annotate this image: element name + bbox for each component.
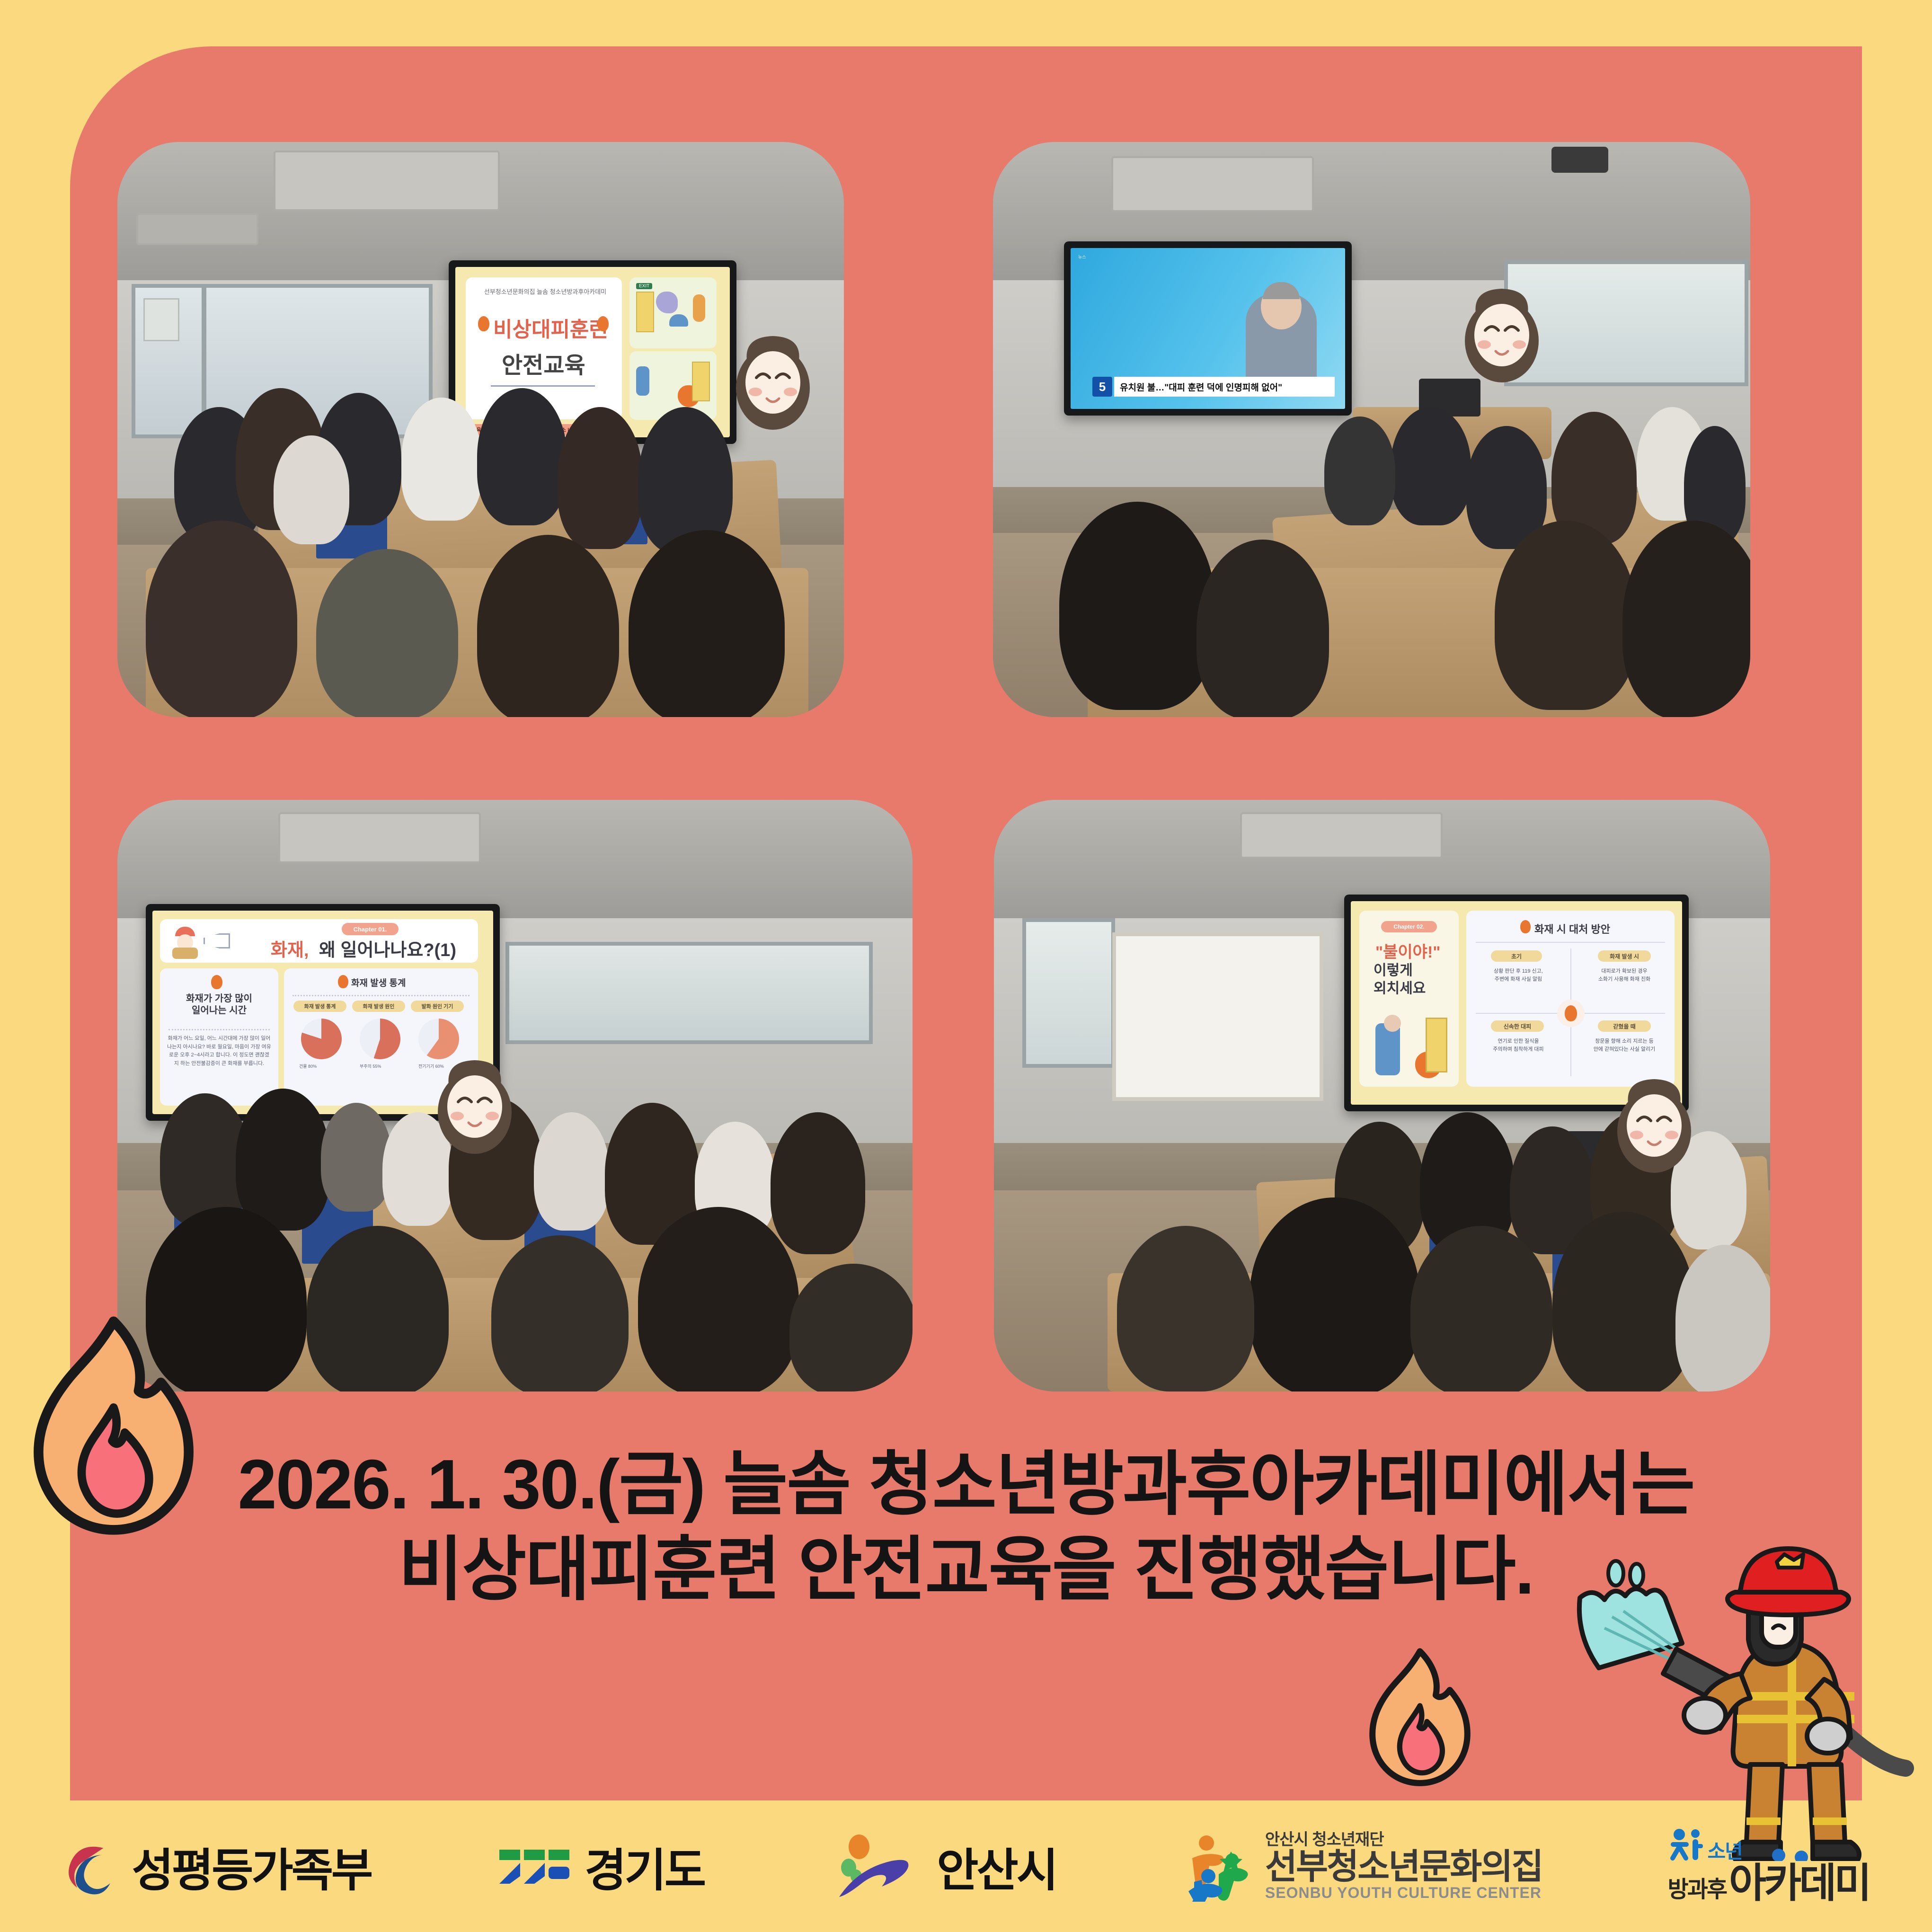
caption-line-1: 2026. 1. 30.(금) 늘솜 청소년방과후아카데미에서는 — [0, 1444, 1932, 1526]
slide4-chapter: Chapter 02. — [1381, 921, 1437, 932]
logo-ministry-label: 성평등가족부 — [132, 1834, 371, 1899]
logo-gyeonggi-province: 경기도 — [496, 1834, 704, 1899]
logo-seonbu-youth-culture-center: 안산시 청소년재단 선부청소년문화의집 SEONBU YOUTH CULTURE… — [1182, 1831, 1542, 1902]
slide3-pie-2-label: 화재 발생 원인 — [352, 1001, 405, 1012]
slide4-quad-1-chip: 초기 — [1491, 950, 1542, 962]
slide4-quad-3-text: 연기로 인한 질식을 주의하며 침착하게 대피 — [1477, 1037, 1560, 1054]
logo-ansan-city: 안산시 — [830, 1831, 1056, 1902]
slide4-title-black: 이렇게 외치세요 — [1374, 962, 1445, 997]
logo-seonbu-en: SEONBU YOUTH CULTURE CENTER — [1265, 1885, 1542, 1901]
photo-3: Chapter 01. 화재, 왜 일어나나요?(1) 화재가 가장 많이 일어… — [117, 800, 913, 1391]
slide3-right-title: 화재 발생 통계 — [351, 976, 406, 989]
slide4-quad-4-text: 창문을 향해 소리 지르는 등 안에 갇혀있다는 사실 알리기 — [1581, 1037, 1668, 1054]
logo-academy-label: 아카데미 — [1729, 1862, 1869, 1905]
slide1-title-red: 비상대피훈련 — [493, 312, 608, 343]
slide1-title-black: 안전교육 — [502, 346, 585, 380]
logo-seonbu-label: 선부청소년문화의집 — [1265, 1848, 1542, 1885]
taegeuk-swirl-icon — [62, 1838, 119, 1895]
people-star-mark-icon — [1182, 1831, 1253, 1902]
cartoon-face-sticker-icon — [430, 1055, 520, 1155]
logo-academy-badge-sub: 소년 — [1708, 1841, 1742, 1862]
slide3-pie-1-label: 화재 발생 통계 — [293, 1001, 346, 1012]
flame-icon — [1358, 1647, 1481, 1789]
slide1-exit-label: EXIT — [636, 283, 652, 289]
photo-4: Chapter 02. "불이야!" 이렇게 외치세요 화재 시 대처 방안 — [994, 800, 1770, 1391]
ansan-swirl-mark-icon — [830, 1831, 924, 1902]
slide3-left-title: 화재가 가장 많이 일어나는 시간 — [168, 993, 270, 1017]
photo-1: 선부청소년문화의집 늘솜 청소년방과후아카데미 비상대피훈련 안전교육 EXIT — [117, 142, 844, 717]
slide3-pie-3-label: 발화 원인 기기 — [411, 1001, 464, 1012]
logo-seonbu-sub: 안산시 청소년재단 — [1265, 1832, 1542, 1849]
poster-canvas: 선부청소년문화의집 늘솜 청소년방과후아카데미 비상대피훈련 안전교육 EXIT — [0, 0, 1932, 1932]
cartoon-face-sticker-icon — [1609, 1074, 1699, 1174]
slide3-pie-1-slice: 건물 80% — [299, 1063, 317, 1069]
logo-gyeonggi-label: 경기도 — [585, 1834, 704, 1899]
slide4-quad-4-chip: 갇혔을 때 — [1598, 1020, 1651, 1032]
gyeonggi-gg-mark-icon — [496, 1840, 572, 1892]
logo-youth-after-school-academy: 소년 방과후 아카데미 — [1668, 1828, 1870, 1905]
logo-ministry-gender-equality-family: 성평등가족부 — [62, 1834, 371, 1899]
slide4-quad-1-text: 상황 판단 후 119 신고, 주변에 화재 사실 알림 — [1477, 967, 1560, 984]
slide4-quad-2-chip: 화재 발생 시 — [1598, 950, 1651, 962]
slide4-quad-2-text: 대피로가 확보된 경우 소화기 사용해 화재 진화 — [1582, 967, 1667, 984]
slide4-title-red: "불이야!" — [1375, 939, 1440, 962]
photo-2: 뉴스 5 유치원 불…"대피 훈련 덕에 인명피해 없어" — [993, 142, 1750, 717]
news-headline: 유치원 불…"대피 훈련 덕에 인명피해 없어" — [1114, 377, 1335, 397]
cartoon-face-sticker-icon — [728, 331, 818, 431]
slide1-header: 선부청소년문화의집 늘솜 청소년방과후아카데미 — [474, 287, 616, 296]
slide3-pie-2-slice: 부주의 55% — [360, 1063, 381, 1069]
slide4-right-title: 화재 시 대처 방안 — [1534, 921, 1610, 936]
sponsor-logo-bar: 성평등가족부 경기도 안산시 — [0, 1800, 1932, 1932]
news-channel-badge: 5 — [1092, 377, 1112, 397]
water-spray-icon — [1579, 1561, 1682, 1668]
slide4-quad-3-chip: 신속한 대피 — [1491, 1020, 1544, 1032]
logo-ansan-label: 안산시 — [937, 1834, 1056, 1899]
slide3-left-body: 화재가 어느 요일, 어느 시간대에 가장 많이 일어나는지 아시나요? 바로 … — [167, 1035, 272, 1068]
slide3-chapter: Chapter 01. — [342, 923, 399, 935]
logo-academy-prefix: 방과후 — [1668, 1878, 1726, 1902]
slide3-title-black: 왜 일어나나요?(1) — [319, 935, 456, 961]
person-cheong-mark-icon — [1668, 1828, 1704, 1862]
slide3-title-red: 화재, — [271, 935, 309, 961]
cartoon-face-sticker-icon — [1457, 284, 1547, 383]
